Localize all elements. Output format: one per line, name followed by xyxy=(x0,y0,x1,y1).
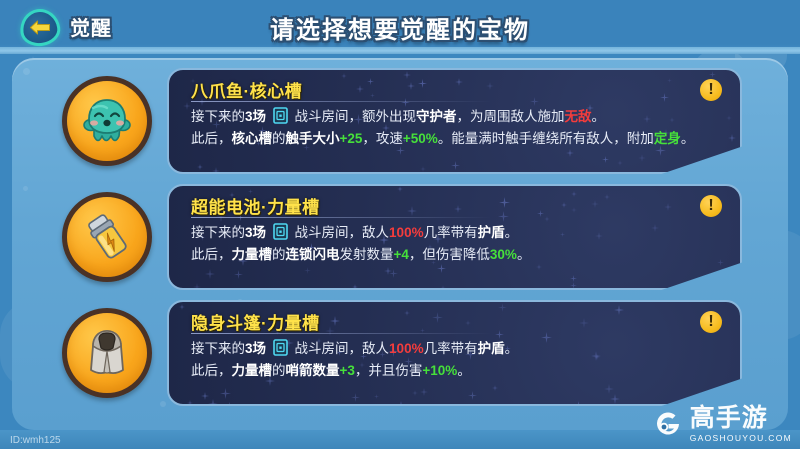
star-sparkle-icon xyxy=(702,277,709,284)
card-divider xyxy=(191,217,491,218)
treasure-row: ! 隐身斗篷·力量槽 接下来的3场 战斗房间，敌人100%几率带有护盾。 此后，… xyxy=(12,300,788,406)
back-arrow-icon xyxy=(29,20,51,35)
star-sparkle-icon xyxy=(451,161,460,170)
star-sparkle-icon xyxy=(403,71,411,79)
star-sparkle-icon xyxy=(220,388,231,399)
g-logo-icon xyxy=(651,407,685,441)
star-sparkle-icon xyxy=(498,211,509,222)
treasure-row: ! 超能电池·力量槽 接下来的3场 战斗房间，敌人100%几率带有护盾。 此后，… xyxy=(12,184,788,290)
star-sparkle-icon xyxy=(384,267,392,275)
star-sparkle-icon xyxy=(420,388,428,396)
star-sparkle-icon xyxy=(492,385,498,391)
card-title: 隐身斗篷·力量槽 xyxy=(191,309,320,334)
star-sparkle-icon xyxy=(561,202,567,208)
star-sparkle-icon xyxy=(498,303,507,312)
star-sparkle-icon xyxy=(570,282,577,289)
star-sparkle-icon xyxy=(404,310,410,316)
star-sparkle-icon xyxy=(697,391,703,397)
card-description: 接下来的3场 战斗房间，敌人100%几率带有护盾。 此后，力量槽的连锁闪电发射数… xyxy=(191,222,736,266)
card-line-1: 接下来的3场 战斗房间，额外出现守护者，为周围敌人施加无敌。 xyxy=(191,106,736,128)
watermark-cn: 高手游 xyxy=(690,406,792,431)
battle-room-icon xyxy=(273,339,288,356)
star-sparkle-icon xyxy=(638,154,646,162)
star-sparkle-icon xyxy=(187,400,193,406)
star-sparkle-icon xyxy=(667,78,672,83)
star-sparkle-icon xyxy=(205,269,215,279)
card-line-1: 接下来的3场 战斗房间，敌人100%几率带有护盾。 xyxy=(191,338,736,360)
card-line-1: 接下来的3场 战斗房间，敌人100%几率带有护盾。 xyxy=(191,222,736,244)
star-sparkle-icon xyxy=(455,78,463,86)
star-sparkle-icon xyxy=(486,82,494,90)
treasure-icon-octopus[interactable] xyxy=(62,76,152,166)
star-sparkle-icon xyxy=(367,78,374,85)
treasure-icon-battery[interactable] xyxy=(62,192,152,282)
star-sparkle-icon xyxy=(604,384,614,394)
star-sparkle-icon xyxy=(530,97,539,106)
info-badge[interactable]: ! xyxy=(700,195,722,217)
star-sparkle-icon xyxy=(570,275,577,282)
star-sparkle-icon xyxy=(579,318,589,328)
card-title: 八爪鱼·核心槽 xyxy=(191,77,302,102)
session-id-label: ID:wmh125 xyxy=(10,435,61,446)
star-sparkle-icon xyxy=(397,401,405,406)
star-sparkle-icon xyxy=(610,394,620,404)
watermark-text: 高手游 GAOSHOUYOU.COM xyxy=(690,406,792,443)
star-sparkle-icon xyxy=(566,149,574,157)
star-sparkle-icon xyxy=(715,159,723,167)
star-sparkle-icon xyxy=(407,206,417,216)
card-description: 接下来的3场 战斗房间，额外出现守护者，为周围敌人施加无敌。 此后，核心槽的触手… xyxy=(191,106,736,150)
star-sparkle-icon xyxy=(183,102,191,110)
star-sparkle-icon xyxy=(179,304,185,310)
card-divider xyxy=(191,333,491,334)
star-sparkle-icon xyxy=(617,160,623,166)
star-sparkle-icon xyxy=(499,197,510,208)
battle-room-icon xyxy=(273,223,288,240)
star-sparkle-icon xyxy=(226,402,233,406)
treasure-card[interactable]: ! 超能电池·力量槽 接下来的3场 战斗房间，敌人100%几率带有护盾。 此后，… xyxy=(167,184,742,290)
card-title: 超能电池·力量槽 xyxy=(191,193,320,218)
header-shine-divider xyxy=(0,47,800,54)
star-sparkle-icon xyxy=(571,207,577,213)
card-line-2: 此后，力量槽的哨箭数量+3，并且伤害+10%。 xyxy=(191,360,736,382)
battery-icon xyxy=(80,210,134,264)
treasure-card[interactable]: ! 隐身斗篷·力量槽 接下来的3场 战斗房间，敌人100%几率带有护盾。 此后，… xyxy=(167,300,742,406)
star-sparkle-icon xyxy=(397,186,403,192)
card-divider xyxy=(191,101,491,102)
star-sparkle-icon xyxy=(604,194,610,200)
info-badge[interactable]: ! xyxy=(700,79,722,101)
star-sparkle-icon xyxy=(454,205,462,213)
star-sparkle-icon xyxy=(685,282,691,288)
star-sparkle-icon xyxy=(591,200,599,208)
star-sparkle-icon xyxy=(614,305,624,315)
star-sparkle-icon xyxy=(432,312,443,323)
star-sparkle-icon xyxy=(208,399,218,406)
star-sparkle-icon xyxy=(351,393,360,402)
star-sparkle-icon xyxy=(465,320,471,326)
watermark-en: GAOSHOUYOU.COM xyxy=(690,434,792,443)
card-description: 接下来的3场 战斗房间，敌人100%几率带有护盾。 此后，力量槽的哨箭数量+3，… xyxy=(191,338,736,382)
star-sparkle-icon xyxy=(574,401,583,406)
selection-panel: ! 八爪鱼·核心槽 接下来的3场 战斗房间，额外出现守护者，为周围敌人施加无敌。… xyxy=(12,58,788,430)
star-sparkle-icon xyxy=(468,391,477,400)
star-sparkle-icon xyxy=(664,203,672,211)
info-badge[interactable]: ! xyxy=(700,311,722,333)
star-sparkle-icon xyxy=(341,73,347,79)
page-title: 请选择想要觉醒的宝物 xyxy=(0,10,800,45)
treasure-card[interactable]: ! 八爪鱼·核心槽 接下来的3场 战斗房间，额外出现守护者，为周围敌人施加无敌。… xyxy=(167,68,742,174)
star-sparkle-icon xyxy=(440,285,446,290)
treasure-row: ! 八爪鱼·核心槽 接下来的3场 战斗房间，额外出现守护者，为周围敌人施加无敌。… xyxy=(12,68,788,174)
star-sparkle-icon xyxy=(352,284,358,290)
star-sparkle-icon xyxy=(370,93,375,98)
star-sparkle-icon xyxy=(193,283,201,290)
star-sparkle-icon xyxy=(709,71,716,78)
star-sparkle-icon xyxy=(197,164,203,170)
star-sparkle-icon xyxy=(325,326,335,336)
star-sparkle-icon xyxy=(537,210,544,217)
site-watermark: 高手游 GAOSHOUYOU.COM xyxy=(651,404,792,444)
star-sparkle-icon xyxy=(356,85,364,93)
header-bar: 觉醒 请选择想要觉醒的宝物 xyxy=(0,0,800,54)
star-sparkle-icon xyxy=(660,93,669,102)
star-sparkle-icon xyxy=(212,167,220,174)
star-sparkle-icon xyxy=(330,316,340,326)
star-sparkle-icon xyxy=(374,394,379,399)
game-screen: 觉醒 请选择想要觉醒的宝物 xyxy=(0,0,800,449)
star-sparkle-icon xyxy=(418,79,427,88)
card-line-2: 此后，力量槽的连锁闪电发射数量+4，但伤害降低30%。 xyxy=(191,244,736,266)
card-line-2: 此后，核心槽的触手大小+25，攻速+50%。能量满时触手缠绕所有敌人，附加定身。 xyxy=(191,128,736,150)
star-sparkle-icon xyxy=(420,166,426,172)
star-sparkle-icon xyxy=(389,269,398,278)
octopus-icon xyxy=(80,94,134,148)
star-sparkle-icon xyxy=(571,191,577,197)
battle-room-icon xyxy=(273,107,288,124)
star-sparkle-icon xyxy=(201,392,209,400)
treasure-icon-cloak[interactable] xyxy=(62,308,152,398)
star-sparkle-icon xyxy=(407,82,415,90)
star-sparkle-icon xyxy=(412,390,418,396)
star-sparkle-icon xyxy=(602,156,609,163)
star-sparkle-icon xyxy=(304,267,311,274)
cloak-icon xyxy=(80,326,134,380)
star-sparkle-icon xyxy=(234,270,243,279)
